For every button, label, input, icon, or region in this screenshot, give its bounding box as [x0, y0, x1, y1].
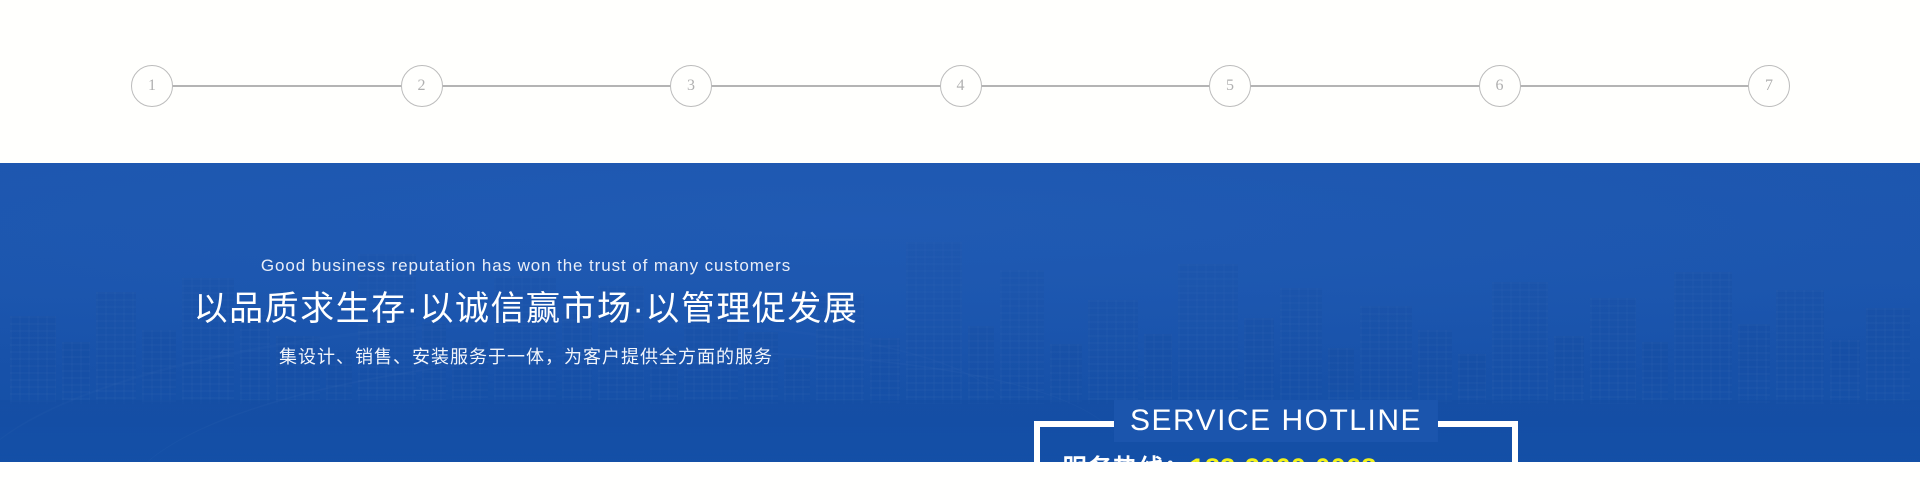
- step-label-5: 5: [1226, 78, 1234, 94]
- step-circle-6[interactable]: 6: [1479, 65, 1521, 107]
- service-hotline-card: SERVICE HOTLINE 服务热线： 183-2660-0068 0551…: [1034, 421, 1518, 462]
- step-label-2: 2: [418, 78, 426, 94]
- step-label-3: 3: [687, 78, 695, 94]
- step-label-6: 6: [1496, 78, 1504, 94]
- slogan-chinese-main: 以品质求生存·以诚信赢市场·以管理促发展: [194, 288, 859, 331]
- step-indicator: 1 2 3 4 5 6 7: [0, 0, 1920, 163]
- promo-banner: Good business reputation has won the tru…: [0, 163, 1920, 462]
- step-circle-5[interactable]: 5: [1209, 65, 1251, 107]
- step-circle-3[interactable]: 3: [670, 65, 712, 107]
- step-label-7: 7: [1765, 78, 1773, 94]
- page-root: 1 2 3 4 5 6 7: [0, 0, 1920, 500]
- hotline-title: SERVICE HOTLINE: [1114, 400, 1438, 442]
- slogan-chinese-sub: 集设计、销售、安装服务于一体，为客户提供全方面的服务: [279, 343, 773, 369]
- step-label-1: 1: [148, 78, 156, 94]
- hotline-label: 服务热线：: [1062, 449, 1190, 462]
- step-circle-7[interactable]: 7: [1748, 65, 1790, 107]
- hotline-phone-primary[interactable]: 183-2660-0068: [1190, 453, 1377, 462]
- slogan-block: Good business reputation has won the tru…: [0, 163, 1000, 462]
- step-circle-4[interactable]: 4: [940, 65, 982, 107]
- step-circle-2[interactable]: 2: [401, 65, 443, 107]
- hotline-numbers: 服务热线： 183-2660-0068 0551-63749777: [1034, 449, 1518, 462]
- step-label-4: 4: [957, 78, 965, 94]
- hotline-row-primary: 服务热线： 183-2660-0068: [1062, 449, 1518, 462]
- slogan-english: Good business reputation has won the tru…: [261, 256, 791, 276]
- step-circle-1[interactable]: 1: [131, 65, 173, 107]
